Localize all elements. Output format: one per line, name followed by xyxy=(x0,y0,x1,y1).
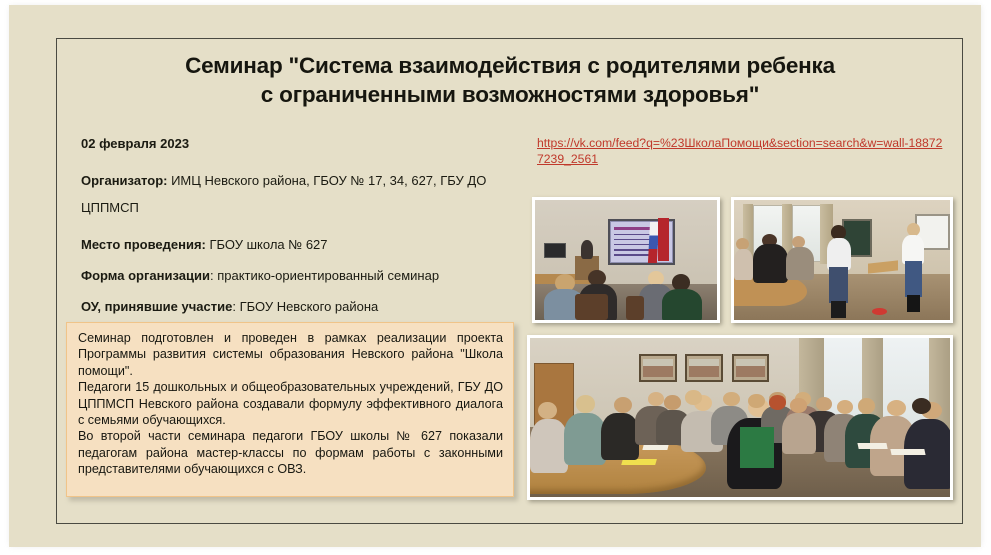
event-format-value: : практико-ориентированный семинар xyxy=(210,268,439,283)
description-paragraph-2: Педагоги 15 дошкольных и общеобразовател… xyxy=(78,379,503,428)
event-venue-row: Место проведения: ГБОУ школа № 627 xyxy=(81,237,521,252)
page-title-line-2: с ограниченными возможностями здоровья" xyxy=(69,80,951,109)
event-date: 02 февраля 2023 xyxy=(81,136,189,151)
description-text: Семинар подготовлен и проведен в рамках … xyxy=(78,330,503,478)
slide-canvas: Семинар "Система взаимодействия с родите… xyxy=(9,5,981,547)
page-title-line-1: Семинар "Система взаимодействия с родите… xyxy=(69,51,951,80)
description-paragraph-1: Семинар подготовлен и проведен в рамках … xyxy=(78,330,503,379)
event-participants-row: ОУ, принявшие участие: ГБОУ Невского рай… xyxy=(81,299,521,314)
description-paragraph-3: Во второй части семинара педагоги ГБОУ ш… xyxy=(78,428,503,477)
page-title: Семинар "Система взаимодействия с родите… xyxy=(69,51,951,109)
event-format-label: Форма организации xyxy=(81,268,210,283)
event-participants-label: ОУ, принявшие участие xyxy=(81,299,232,314)
event-venue-value: ГБОУ школа № 627 xyxy=(206,237,328,252)
event-organizer-label: Организатор: xyxy=(81,173,167,188)
photo-workshop-activity[interactable] xyxy=(731,197,953,323)
photo-group-audience[interactable] xyxy=(527,335,953,500)
event-organizer-row: Организатор: ИМЦ Невского района, ГБОУ №… xyxy=(81,167,521,221)
event-date-row: 02 февраля 2023 xyxy=(81,136,521,151)
description-box: Семинар подготовлен и проведен в рамках … xyxy=(66,322,514,497)
event-participants-value: : ГБОУ Невского района xyxy=(232,299,378,314)
vk-source-link[interactable]: https://vk.com/feed?q=%23ШколаПомощи&sec… xyxy=(537,136,943,167)
presentation-page: Семинар "Система взаимодействия с родите… xyxy=(0,0,991,555)
event-venue-label: Место проведения: xyxy=(81,237,206,252)
photo-seminar-presentation[interactable] xyxy=(532,197,720,323)
event-details: 02 февраля 2023 Организатор: ИМЦ Невског… xyxy=(81,136,521,314)
event-format-row: Форма организации: практико-ориентирован… xyxy=(81,268,521,283)
